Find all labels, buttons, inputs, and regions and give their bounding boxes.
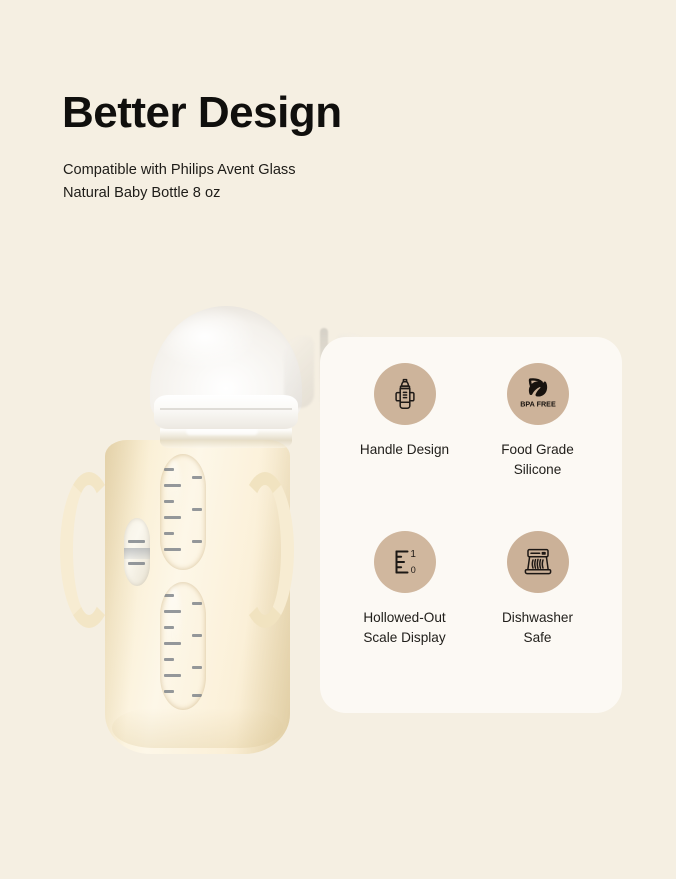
page-title: Better Design (62, 88, 342, 138)
feature-label: Food Grade Silicone (501, 440, 574, 479)
scale-value-bottom: 0 (410, 565, 415, 575)
sleeve-window-bottom-scale (160, 582, 206, 710)
product-image-baby-bottle (46, 296, 308, 766)
feature-icon-circle: 1 0 (374, 531, 436, 593)
feature-dishwasher-safe: Dishwasher Safe (471, 531, 604, 699)
feature-icon-circle (507, 531, 569, 593)
bpa-free-text: BPA FREE (520, 399, 556, 408)
feature-label: Dishwasher Safe (502, 608, 573, 647)
feature-label: Hollowed-Out Scale Display (363, 608, 445, 647)
bottle-handle-right (236, 472, 294, 628)
sleeve-window-top-scale (160, 454, 206, 570)
sleeve-bottom (112, 708, 283, 748)
features-grid: Handle Design BPA FREE Food Grade Silico… (320, 337, 622, 713)
infographic-page: Better Design Compatible with Philips Av… (0, 0, 676, 879)
feature-hollowed-out-scale: 1 0 Hollowed-Out Scale Display (338, 531, 471, 699)
feature-label: Handle Design (360, 440, 449, 460)
bpa-free-leaf-icon: BPA FREE (518, 374, 558, 414)
dishwasher-icon (520, 544, 556, 580)
subtitle-line-1: Compatible with Philips Avent Glass (63, 159, 393, 182)
scale-value-top: 1 (410, 549, 416, 560)
feature-icon-circle: BPA FREE (507, 363, 569, 425)
bottle-handle-left (60, 472, 118, 628)
feature-icon-circle (374, 363, 436, 425)
measuring-scale-icon: 1 0 (387, 544, 423, 580)
subtitle-line-2: Natural Baby Bottle 8 oz (63, 182, 393, 205)
sleeve-window-side (124, 518, 150, 586)
feature-food-grade-silicone: BPA FREE Food Grade Silicone (471, 363, 604, 531)
baby-bottle-with-handles-icon (388, 377, 422, 411)
bottle-cap-collar (154, 395, 298, 429)
features-card: Handle Design BPA FREE Food Grade Silico… (320, 337, 622, 713)
page-subtitle: Compatible with Philips Avent Glass Natu… (63, 159, 393, 204)
feature-handle-design: Handle Design (338, 363, 471, 531)
